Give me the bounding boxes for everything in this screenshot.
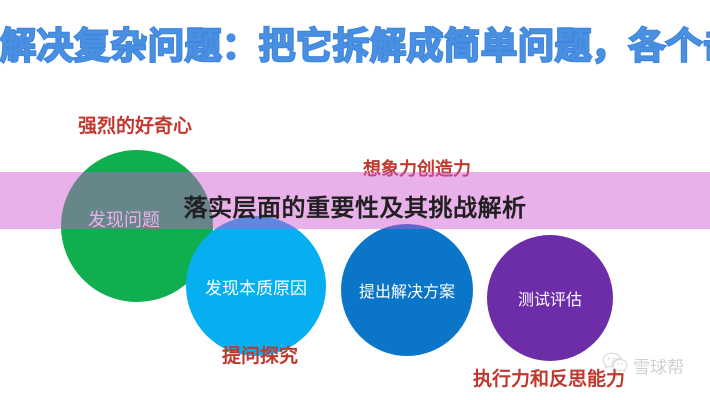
circle-label-test-evaluate: 测试评估 (518, 286, 582, 310)
infographic-screenshot: 解决复杂问题：把它拆解成简单问题，各个击破 发现问题 发现本质原因 提出解决方案… (0, 0, 710, 400)
overlay-title: 落实层面的重要性及其挑战解析 (0, 188, 710, 223)
wechat-icon (602, 352, 628, 378)
watermark-text: 雪球帮 (633, 353, 684, 378)
circle-propose-solution: 提出解决方案 (341, 224, 473, 356)
circle-label-propose-solution: 提出解决方案 (359, 278, 455, 302)
annotation-curiosity: 强烈的好奇心 (78, 111, 192, 138)
watermark: 雪球帮 (602, 352, 684, 378)
annotation-inquiry: 提问探究 (222, 341, 298, 368)
circle-root-cause: 发现本质原因 (186, 216, 326, 356)
page-title: 解决复杂问题：把它拆解成简单问题，各个击破 (0, 26, 710, 67)
circle-test-evaluate: 测试评估 (487, 235, 613, 361)
circle-label-root-cause: 发现本质原因 (205, 274, 307, 299)
